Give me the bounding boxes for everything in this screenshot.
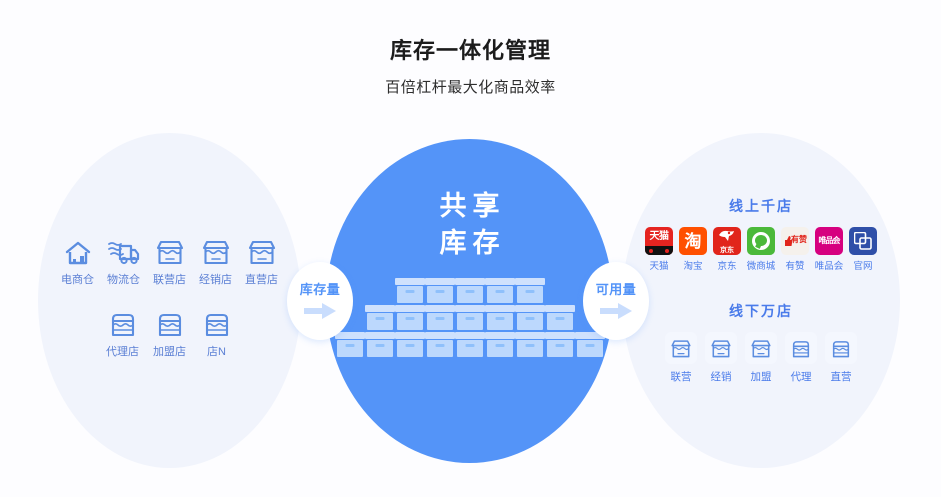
inventory-box-icon <box>487 278 513 303</box>
inventory-box-icon <box>457 332 483 357</box>
inventory-box-icon <box>487 305 513 330</box>
inventory-box-icon <box>367 305 393 330</box>
online-channel-label: 京东 <box>717 260 736 273</box>
offline-channels-row: 联营经销加盟代理直营 <box>622 332 900 384</box>
inventory-box-icon <box>547 305 573 330</box>
supply-sources-row-1: 电商仓物流仓联营店经销店直营店 <box>38 232 301 288</box>
inventory-box-icon <box>427 305 453 330</box>
inventory-box-icon <box>397 278 423 303</box>
offline-channels-title: 线下万店 <box>622 301 900 321</box>
supply-source-item[interactable]: 物流仓 <box>101 232 147 288</box>
supply-sources-group: 电商仓物流仓联营店经销店直营店 代理店加盟店店N <box>38 232 301 360</box>
offline-channels-block: 线下万店 联营经销加盟代理直营 <box>622 301 900 384</box>
youzan-logo[interactable]: 有赞 <box>781 227 809 255</box>
supply-source-label: 代理店 <box>106 345 139 360</box>
supply-source-label: 联营店 <box>153 273 186 288</box>
warehouse-house-icon <box>63 232 93 266</box>
supply-sources-row-2: 代理店加盟店店N <box>38 304 301 360</box>
online-channels-title: 线上千店 <box>622 196 900 216</box>
slide-canvas: 库存一体化管理 百倍杠杆最大化商品效率 共享 库存 库存量 可用量 电商仓物流仓… <box>0 0 941 497</box>
offline-channel-label: 联营 <box>671 370 692 384</box>
offline-channel-label: 加盟 <box>751 370 772 384</box>
delivery-truck-icon <box>107 232 141 266</box>
box-row <box>326 305 613 330</box>
shop-stack-icon <box>202 304 232 338</box>
supply-source-item[interactable]: 电商仓 <box>55 232 101 288</box>
storefront-icon <box>745 332 777 364</box>
supply-source-label: 加盟店 <box>153 345 186 360</box>
sales-channels-group: 线上千店 天猫天猫淘淘宝京东京东微商城有赞有赞唯品会唯品会官网 线下万店 联营经… <box>622 196 900 384</box>
inventory-box-icon <box>457 278 483 303</box>
supply-source-label: 店N <box>207 345 226 360</box>
stock-quantity-label: 库存量 <box>300 281 341 298</box>
offline-channel-item[interactable]: 直营 <box>823 332 859 384</box>
supply-source-label: 直营店 <box>245 273 278 288</box>
inventory-box-icon <box>397 305 423 330</box>
supply-source-item[interactable]: 代理店 <box>99 304 146 360</box>
supply-source-label: 电商仓 <box>61 273 94 288</box>
inventory-box-icon <box>487 332 513 357</box>
supply-source-item[interactable]: 加盟店 <box>146 304 193 360</box>
supply-source-item[interactable]: 店N <box>193 304 240 360</box>
offline-channel-label: 代理 <box>791 370 812 384</box>
storefront-icon <box>155 232 185 266</box>
online-channel-item[interactable]: 官网 <box>848 227 878 273</box>
inventory-box-icon <box>427 332 453 357</box>
online-channels-row: 天猫天猫淘淘宝京东京东微商城有赞有赞唯品会唯品会官网 <box>622 227 900 273</box>
online-channel-item[interactable]: 天猫天猫 <box>644 227 674 273</box>
storefront-icon <box>201 232 231 266</box>
inventory-box-icon <box>397 332 423 357</box>
online-channel-label: 唯品会 <box>815 260 844 273</box>
inventory-box-icon <box>367 332 393 357</box>
supply-source-item[interactable]: 直营店 <box>239 232 285 288</box>
header: 库存一体化管理 百倍杠杆最大化商品效率 <box>0 36 941 99</box>
online-channel-item[interactable]: 京东京东 <box>712 227 742 273</box>
box-row <box>326 332 613 357</box>
box-row <box>326 278 613 303</box>
inventory-box-icon <box>517 305 543 330</box>
supply-source-item[interactable]: 联营店 <box>147 232 193 288</box>
arrow-right-icon <box>302 301 338 321</box>
inventory-box-icon <box>577 332 603 357</box>
online-channel-item[interactable]: 有赞有赞 <box>780 227 810 273</box>
center-label-line2: 库存 <box>326 225 613 262</box>
supply-source-label: 经销店 <box>199 273 232 288</box>
online-channel-item[interactable]: 微商城 <box>746 227 776 273</box>
offline-channel-item[interactable]: 代理 <box>783 332 819 384</box>
wechat-shop-logo[interactable] <box>747 227 775 255</box>
storefront-icon <box>247 232 277 266</box>
page-subtitle: 百倍杠杆最大化商品效率 <box>0 77 941 99</box>
inventory-box-icon <box>517 278 543 303</box>
offline-channel-item[interactable]: 经销 <box>703 332 739 384</box>
storefront-icon <box>665 332 697 364</box>
jd-logo[interactable]: 京东 <box>713 227 741 255</box>
online-channel-label: 淘宝 <box>683 260 702 273</box>
official-site-logo[interactable] <box>849 227 877 255</box>
online-channel-label: 天猫 <box>649 260 668 273</box>
offline-channel-label: 经销 <box>711 370 732 384</box>
online-channel-item[interactable]: 唯品会唯品会 <box>814 227 844 273</box>
shop-stack-icon <box>155 304 185 338</box>
shop-stack-icon <box>785 332 817 364</box>
taobao-logo[interactable]: 淘 <box>679 227 707 255</box>
supply-source-label: 物流仓 <box>107 273 140 288</box>
online-channel-label: 官网 <box>853 260 872 273</box>
vip-logo[interactable]: 唯品会 <box>815 227 843 255</box>
inventory-box-icon <box>547 332 573 357</box>
offline-channel-item[interactable]: 联营 <box>663 332 699 384</box>
online-channel-label: 微商城 <box>747 260 776 273</box>
inventory-box-icon <box>517 332 543 357</box>
inventory-box-icon <box>337 332 363 357</box>
center-label: 共享 库存 <box>326 188 613 262</box>
inventory-box-pyramid <box>326 278 613 359</box>
shop-stack-icon <box>108 304 138 338</box>
offline-channel-item[interactable]: 加盟 <box>743 332 779 384</box>
supply-source-item[interactable]: 经销店 <box>193 232 239 288</box>
page-title: 库存一体化管理 <box>0 36 941 66</box>
center-label-line1: 共享 <box>326 188 613 225</box>
inventory-box-icon <box>457 305 483 330</box>
storefront-icon <box>705 332 737 364</box>
online-channel-label: 有赞 <box>785 260 804 273</box>
inventory-box-icon <box>427 278 453 303</box>
online-channel-item[interactable]: 淘淘宝 <box>678 227 708 273</box>
tmall-logo[interactable]: 天猫 <box>645 227 673 255</box>
shop-stack-icon <box>825 332 857 364</box>
offline-channel-label: 直营 <box>831 370 852 384</box>
